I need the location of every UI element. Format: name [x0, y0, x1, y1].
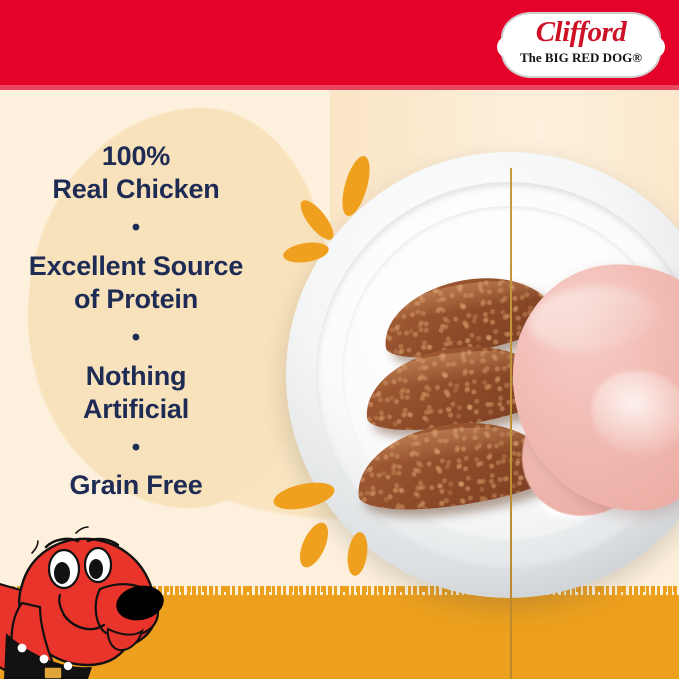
benefit-3-line-1: Nothing: [0, 360, 272, 393]
dog-pupil-right: [89, 559, 103, 579]
brand-logo: Clifford The BIG RED DOG®: [501, 12, 661, 78]
benefits-list: 100% Real Chicken • Excellent Source of …: [0, 140, 272, 502]
benefit-separator-2: •: [0, 323, 272, 353]
header-banner-underline: [0, 85, 679, 90]
benefit-2-line-1: Excellent Source: [0, 250, 272, 283]
benefit-3-line-2: Artificial: [0, 393, 272, 426]
logo-brand-name: Clifford: [501, 17, 661, 48]
dog-pupil-left: [54, 562, 70, 584]
dog-fur-tuft-2: [76, 527, 88, 533]
benefit-4-line-1: Grain Free: [0, 469, 272, 502]
dog-head-group: [0, 527, 167, 679]
dog-collar-stud-1: [18, 644, 27, 653]
clifford-mascot: [0, 507, 188, 679]
split-divider-line: [510, 168, 512, 679]
dog-collar-tag: [44, 667, 62, 679]
product-feature-image: PREMIUM NUTRITION Clifford The BIG RED D…: [0, 0, 679, 679]
logo-tagline: The BIG RED DOG®: [501, 50, 661, 65]
benefit-1-line-1: 100%: [0, 140, 272, 173]
food-plate: [286, 152, 679, 652]
benefit-2-line-2: of Protein: [0, 283, 272, 316]
dog-fur-tuft-1: [32, 541, 38, 553]
dog-collar-stud-2: [40, 655, 49, 664]
benefit-1-line-2: Real Chicken: [0, 173, 272, 206]
dog-collar-stud-3: [64, 662, 72, 670]
benefit-separator-3: •: [0, 433, 272, 463]
benefit-separator-1: •: [0, 213, 272, 243]
